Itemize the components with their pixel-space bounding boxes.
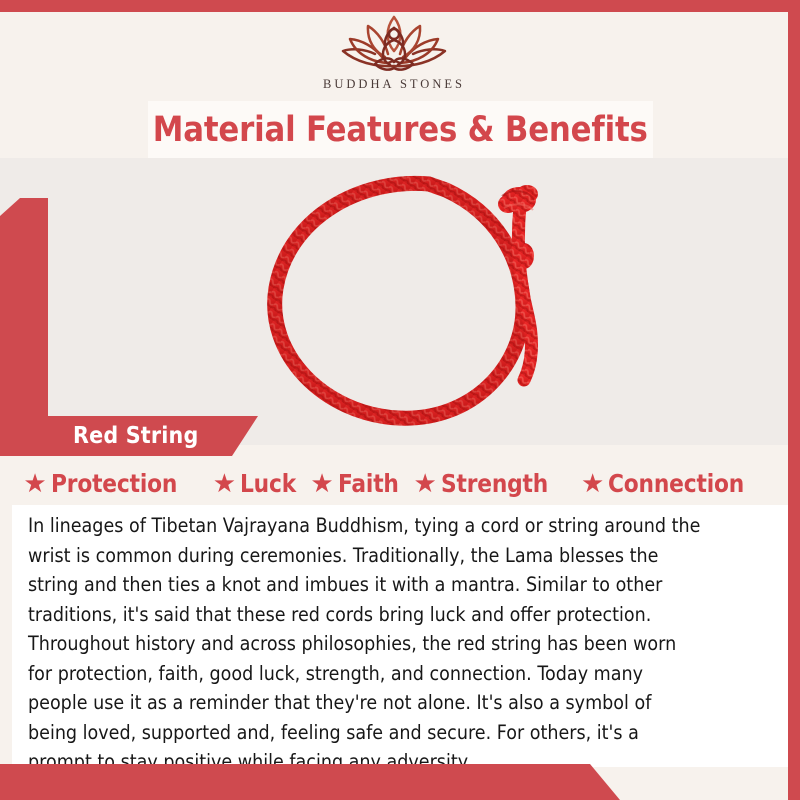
top-border (0, 0, 800, 12)
star-icon: ★ (310, 470, 333, 496)
benefit-label: Strength (441, 469, 548, 498)
star-icon: ★ (414, 470, 437, 496)
star-icon: ★ (213, 470, 236, 496)
description-text: In lineages of Tibetan Vajrayana Buddhis… (28, 511, 705, 777)
title-banner: Material Features & Benefits (148, 101, 653, 158)
lotus-meditation-icon (319, 14, 469, 76)
page-title: Material Features & Benefits (153, 110, 648, 150)
benefits-row: ★ Protection ★ Luck ★ Faith ★ Strength ★… (0, 461, 788, 505)
brand-wordmark: BUDDHA STONES (323, 77, 465, 92)
benefit-label: Connection (608, 469, 744, 498)
left-accent-bar (0, 198, 48, 416)
right-border (788, 0, 800, 800)
red-cord-bracelet-image (232, 160, 582, 445)
benefit-luck: ★ Luck (213, 469, 305, 498)
star-icon: ★ (581, 470, 604, 496)
benefit-connection: ★ Connection (581, 469, 765, 498)
benefit-label: Protection (51, 469, 177, 498)
infographic-page: BUDDHA STONES Material Features & Benefi… (0, 0, 800, 800)
benefit-label: Faith (338, 469, 399, 498)
star-icon: ★ (23, 470, 46, 496)
benefit-protection: ★ Protection (23, 469, 195, 498)
description-panel: In lineages of Tibetan Vajrayana Buddhis… (12, 505, 788, 767)
product-label-text: Red String (73, 423, 198, 449)
benefit-label: Luck (240, 469, 296, 498)
brand-logo: BUDDHA STONES (0, 14, 788, 100)
benefit-strength: ★ Strength (414, 469, 564, 498)
benefit-faith: ★ Faith (310, 469, 407, 498)
product-label-banner: Red String (0, 416, 258, 456)
bottom-accent-bar (0, 764, 620, 800)
